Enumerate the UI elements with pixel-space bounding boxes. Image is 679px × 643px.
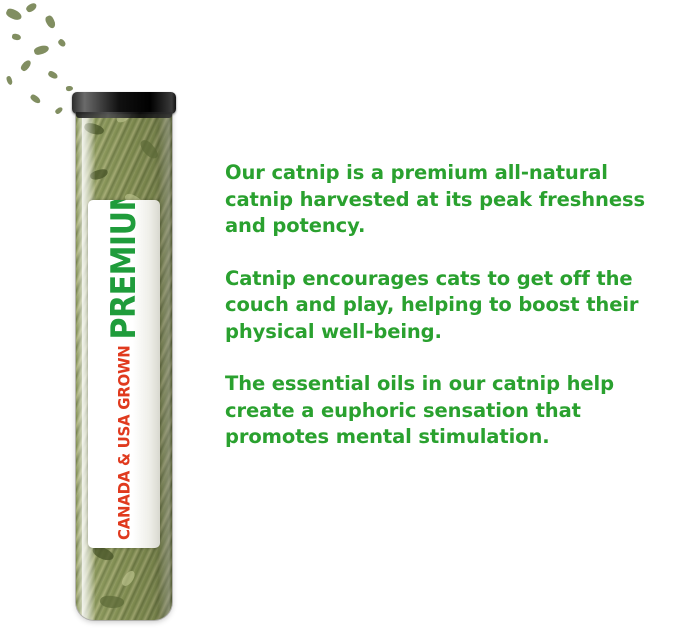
catnip-flake	[54, 106, 63, 115]
marketing-copy: Our catnip is a premium all-natural catn…	[225, 160, 675, 451]
catnip-flake	[57, 38, 67, 48]
catnip-flake	[5, 7, 23, 22]
product-photo: CANADA & USA GROWN PREMIUM CATNIP	[0, 0, 215, 643]
catnip-flake	[6, 75, 14, 85]
catnip-flake	[47, 70, 59, 80]
tube-cap-lip	[76, 112, 172, 118]
tube-cap	[72, 92, 176, 114]
label-product-name: PREMIUM CATNIP	[104, 200, 143, 340]
catnip-flake	[44, 14, 57, 29]
label-origin-text: CANADA & USA GROWN	[115, 346, 134, 541]
catnip-flake	[66, 86, 74, 92]
catnip-flake	[25, 1, 38, 13]
catnip-flake	[33, 44, 50, 56]
catnip-flake	[29, 93, 41, 104]
catnip-flake	[12, 33, 22, 40]
copy-paragraph-2: Catnip encourages cats to get off the co…	[225, 266, 675, 346]
copy-paragraph-1: Our catnip is a premium all-natural catn…	[225, 160, 675, 240]
product-label: CANADA & USA GROWN PREMIUM CATNIP	[88, 200, 160, 548]
copy-paragraph-3: The essential oils in our catnip help cr…	[225, 371, 675, 451]
product-marketing-image: CANADA & USA GROWN PREMIUM CATNIP Our ca…	[0, 0, 679, 643]
catnip-flake	[20, 59, 33, 73]
